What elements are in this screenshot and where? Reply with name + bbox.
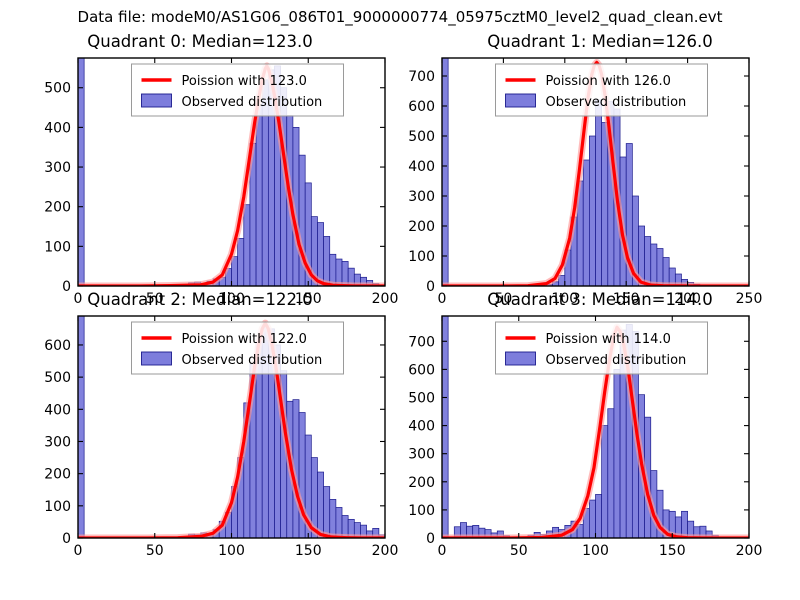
y-tick-label: 100 xyxy=(408,249,435,265)
subplot-quadrant-1: Quadrant 1: Median=126.00501001502002500… xyxy=(400,30,800,292)
figure-suptitle: Data file: modeM0/AS1G06_086T01_90000007… xyxy=(0,8,800,26)
y-tick-label: 700 xyxy=(408,334,435,350)
subplot-title-quadrant-2: Quadrant 2: Median=122.0 xyxy=(0,290,400,309)
x-tick-label: 0 xyxy=(438,543,447,559)
y-tick-label: 300 xyxy=(408,447,435,463)
subplot-quadrant-3: Quadrant 3: Median=114.00501001502000100… xyxy=(400,288,800,553)
subplot-quadrant-2: Quadrant 2: Median=122.00501001502000100… xyxy=(0,288,400,553)
x-tick-label: 0 xyxy=(74,543,83,559)
y-tick-label: 600 xyxy=(408,99,435,115)
subplot-quadrant-0: Quadrant 0: Median=123.00501001502000100… xyxy=(0,30,400,292)
legend-swatch-observed-bar xyxy=(506,352,536,365)
legend: Poission with 123.0Observed distribution xyxy=(132,64,344,116)
x-tick-label: 100 xyxy=(218,543,245,559)
x-tick-label: 150 xyxy=(659,543,686,559)
y-tick-label: 100 xyxy=(44,499,71,515)
figure-canvas: Data file: modeM0/AS1G06_086T01_90000007… xyxy=(0,0,800,600)
x-tick-label: 200 xyxy=(736,543,763,559)
legend: Poission with 114.0Observed distribution xyxy=(496,322,708,374)
y-tick-label: 300 xyxy=(44,434,71,450)
y-tick-label: 600 xyxy=(408,362,435,378)
y-tick-label: 500 xyxy=(44,370,71,386)
legend: Poission with 126.0Observed distribution xyxy=(496,64,708,116)
legend-label-observed: Observed distribution xyxy=(546,95,687,110)
plot-area-quadrant-3: 0501001502000100200300400500600700Poissi… xyxy=(400,288,800,553)
y-tick-label: 400 xyxy=(44,120,71,136)
plot-area-quadrant-0: 0501001502000100200300400500Poission wit… xyxy=(0,30,400,292)
subplot-title-quadrant-0: Quadrant 0: Median=123.0 xyxy=(0,32,400,51)
x-tick-label: 150 xyxy=(295,543,322,559)
y-tick-label: 200 xyxy=(408,219,435,235)
y-tick-label: 500 xyxy=(44,81,71,97)
subplot-title-quadrant-1: Quadrant 1: Median=126.0 xyxy=(400,32,800,51)
y-tick-label: 200 xyxy=(44,200,71,216)
y-tick-label: 400 xyxy=(408,419,435,435)
y-tick-label: 100 xyxy=(408,503,435,519)
y-tick-label: 400 xyxy=(408,159,435,175)
subplot-title-quadrant-3: Quadrant 3: Median=114.0 xyxy=(400,290,800,309)
legend-label-poisson: Poission with 114.0 xyxy=(546,332,671,347)
y-tick-label: 300 xyxy=(44,160,71,176)
y-tick-label: 0 xyxy=(62,531,71,547)
x-tick-label: 50 xyxy=(146,543,164,559)
legend-label-observed: Observed distribution xyxy=(182,353,323,368)
legend-swatch-observed-bar xyxy=(142,94,172,107)
y-tick-label: 200 xyxy=(408,475,435,491)
plot-area-quadrant-2: 0501001502000100200300400500600Poission … xyxy=(0,288,400,553)
legend: Poission with 122.0Observed distribution xyxy=(132,322,344,374)
y-tick-label: 100 xyxy=(44,239,71,255)
y-tick-label: 400 xyxy=(44,402,71,418)
legend-label-poisson: Poission with 123.0 xyxy=(182,74,307,89)
legend-label-observed: Observed distribution xyxy=(546,353,687,368)
y-tick-label: 600 xyxy=(44,338,71,354)
x-tick-label: 200 xyxy=(372,543,399,559)
y-tick-label: 200 xyxy=(44,467,71,483)
y-tick-label: 0 xyxy=(426,531,435,547)
legend-swatch-observed-bar xyxy=(142,352,172,365)
legend-label-observed: Observed distribution xyxy=(182,95,323,110)
x-tick-label: 50 xyxy=(510,543,528,559)
y-tick-label: 500 xyxy=(408,129,435,145)
legend-label-poisson: Poission with 126.0 xyxy=(546,74,671,89)
y-tick-label: 700 xyxy=(408,69,435,85)
legend-swatch-observed-bar xyxy=(506,94,536,107)
y-tick-label: 500 xyxy=(408,390,435,406)
y-tick-label: 300 xyxy=(408,189,435,205)
legend-label-poisson: Poission with 122.0 xyxy=(182,332,307,347)
plot-area-quadrant-1: 0501001502002500100200300400500600700Poi… xyxy=(400,30,800,292)
x-tick-label: 100 xyxy=(582,543,609,559)
